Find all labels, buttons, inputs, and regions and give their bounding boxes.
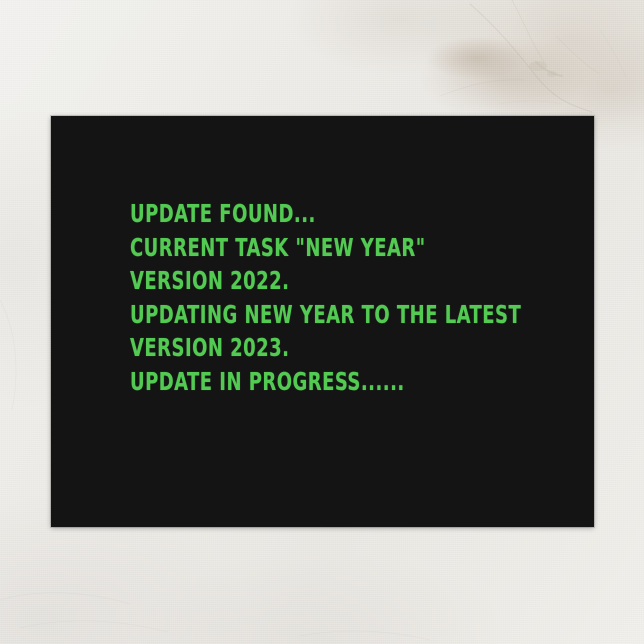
screenshot-stage: UPDATE FOUND... CURRENT TASK "NEW YEAR" … bbox=[0, 0, 644, 644]
terminal-line: UPDATE FOUND... bbox=[130, 197, 490, 231]
terminal-line: UPDATING NEW YEAR TO THE LATEST bbox=[130, 298, 490, 332]
terminal-line: CURRENT TASK "NEW YEAR" bbox=[130, 231, 490, 265]
terminal-output: UPDATE FOUND... CURRENT TASK "NEW YEAR" … bbox=[130, 197, 580, 399]
terminal-line: VERSION 2023. bbox=[130, 331, 490, 365]
postcard: UPDATE FOUND... CURRENT TASK "NEW YEAR" … bbox=[51, 116, 594, 527]
terminal-line: UPDATE IN PROGRESS...... bbox=[130, 365, 490, 399]
terminal-line: VERSION 2022. bbox=[130, 264, 490, 298]
